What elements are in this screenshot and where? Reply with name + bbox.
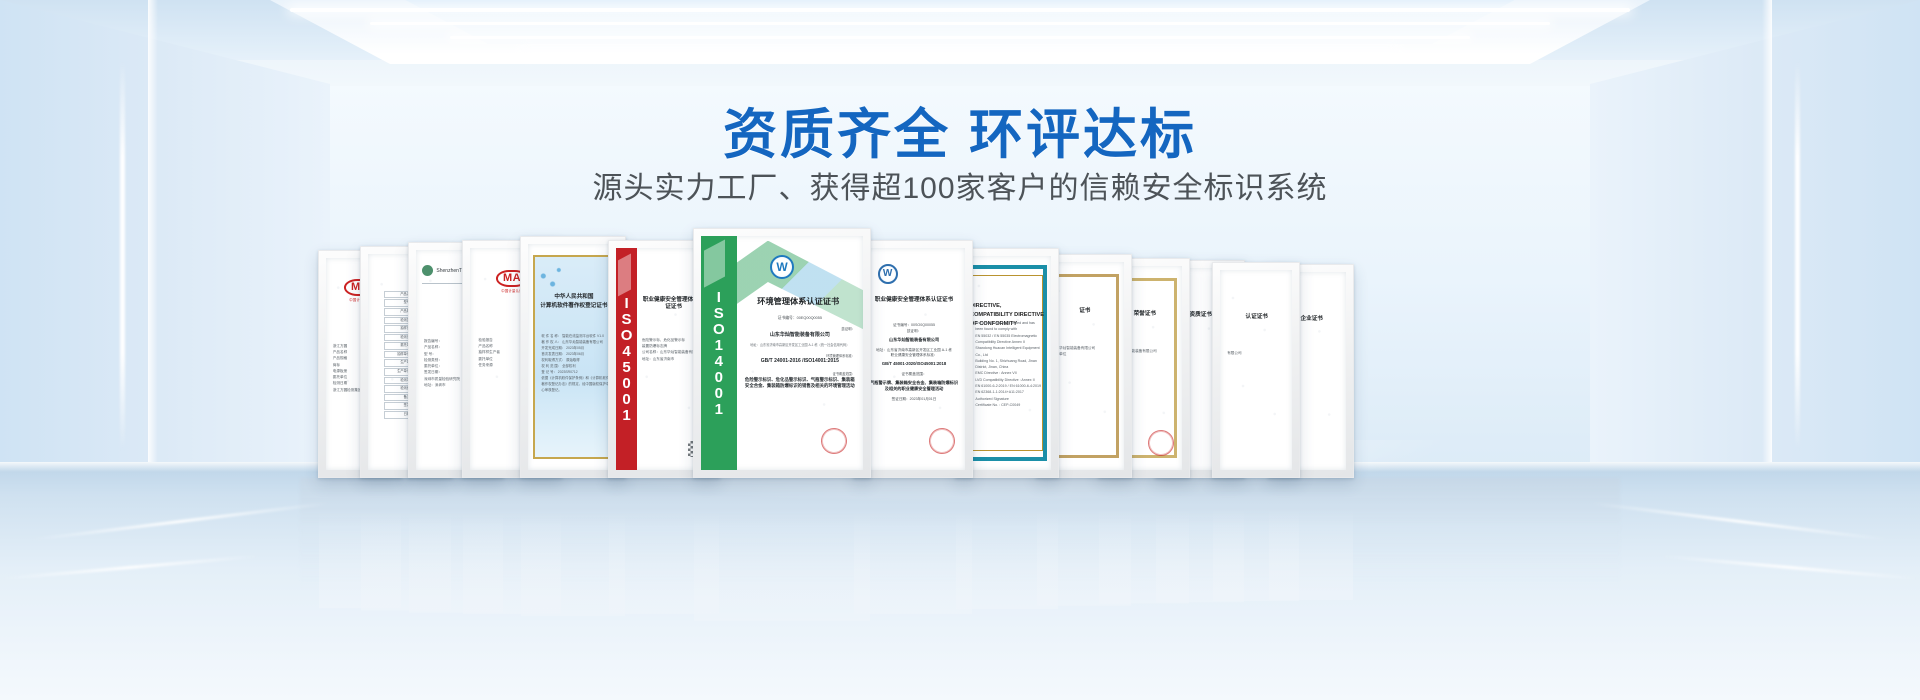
- certificate-title-line: 认证证书: [1226, 314, 1288, 321]
- paper-watermark: [1220, 270, 1292, 470]
- page-subtitle: 源头实力工厂、获得超100家客户的信赖安全标识系统: [0, 163, 1920, 207]
- certificate-body: The product has been tested and has been…: [975, 320, 1042, 408]
- banner-stage: 资质齐全 环评达标 源头实力工厂、获得超100家客户的信赖安全标识系统 MA中国…: [0, 0, 1920, 700]
- certificate-field-line: Certificate No. : CEP-C0049: [975, 402, 1042, 408]
- certificate-title-block: 职业健康安全管理体系认证证书: [869, 297, 958, 306]
- certificate-paper: 认证证书有限公司: [1220, 270, 1292, 470]
- certificate-body: 有限公司: [1227, 350, 1286, 356]
- iso-standard-label: ISO14001: [710, 289, 727, 417]
- certificate-body: 证书编号：00SO0Q00055兹证明：山东华灿智能装备有限公司地址：山东省济南…: [869, 323, 958, 402]
- scope-value: 危险警示标识、危化品警示标识、气瓶警示标识、集装箱安全合金、集装箱防爆标识的销售…: [745, 377, 855, 390]
- company-label: 兹证明：: [869, 329, 958, 335]
- certification-body-logo-icon: W: [878, 264, 898, 284]
- certificate-paper: ISO14001W环境管理体系认证证书证书编号：00EQ00Q0055兹证明：山…: [701, 236, 863, 470]
- ceiling-light-strip-3: [450, 36, 1470, 39]
- certificate-frame[interactable]: W职业健康安全管理体系认证证书证书编号：00SO0Q00055兹证明：山东华灿智…: [853, 240, 973, 478]
- scope-value: 气瓶警示牌、集装箱安全合金、集装箱防爆标识及相关的职业健康安全管理活动: [869, 380, 958, 393]
- certification-body-logo-icon: W: [770, 255, 794, 279]
- certificate-field-line: Shandong Huacan Intelligent Equipment Co…: [975, 345, 1042, 358]
- certificate-title-line: DIRECTIVE,: [970, 303, 1046, 310]
- certificate-paper: DIRECTIVE,COMPATIBILITY DIRECTIVEOF CONF…: [963, 256, 1051, 470]
- company-name: 山东华灿智能装备有限公司: [745, 332, 855, 340]
- ceiling-light-strip-4: [520, 50, 1400, 52]
- certificate-title-line: COMPATIBILITY DIRECTIVE: [970, 312, 1046, 319]
- certificate-field-line: The product has been tested and has been…: [975, 320, 1042, 333]
- certificate-title-line: 职业健康安全管理体系认证证书: [869, 297, 958, 304]
- certificate-number: 证书编号：00EQ00Q0055: [745, 316, 855, 322]
- certificate-body: 证书编号：00EQ00Q0055兹证明：山东华灿智能装备有限公司地址：山东省济南…: [745, 316, 855, 390]
- certificate-title-line: 环境管理体系认证证书: [743, 297, 853, 307]
- certificate-field-line: Building No. 1, Shizhuang Road, Jinan Di…: [975, 358, 1042, 371]
- certificate-body: 山东华灿智能装备有限公司颁发单位: [1052, 345, 1118, 358]
- certificate-title-line: 证书: [1050, 308, 1119, 315]
- certificate-field-line: 有限公司: [1227, 350, 1286, 356]
- page-title: 资质齐全 环评达标: [0, 90, 1920, 169]
- certificate-border-frame: [1049, 274, 1119, 457]
- standard-value: GB/T 45001-2020/ISO45001:2018: [869, 361, 958, 368]
- certificate-title-block: 证书: [1050, 308, 1119, 317]
- ceiling-light-strip-2: [370, 22, 1550, 25]
- certificate-title-block: 认证证书: [1226, 314, 1288, 323]
- iso-standard-label: ISO45001: [618, 295, 635, 423]
- ceiling-light-strip-1: [290, 8, 1630, 12]
- certificate-paper: W职业健康安全管理体系认证证书证书编号：00SO0Q00055兹证明：山东华灿智…: [861, 248, 965, 470]
- iso-standard-band: ISO45001: [616, 248, 637, 470]
- company-name: 山东华灿智能装备有限公司: [869, 337, 958, 344]
- certificate-title-line: 计算机软件著作权登记证书: [535, 303, 612, 310]
- certificate-title-line: 中华人民共和国: [535, 294, 612, 301]
- certificate-paper: 中华人民共和国计算机软件著作权登记证书软 件 名 称： 智能在线监测平台软件 V…: [528, 244, 618, 470]
- standard-value: GB/T 24001-2016 /ISO14001:2015: [745, 358, 855, 366]
- company-address: 地址：山东省济南市高新区开发区工业园 A-1 栋（统一社会信用代码）: [745, 343, 855, 348]
- certificate-title-block: 环境管理体系认证证书: [743, 297, 853, 309]
- certificate-field-line: 依据《计算机软件保护条例》和《计算机软件著作权登记办法》的规定，经中国版权保护中…: [537, 376, 611, 394]
- scope-label: 证书覆盖范围：: [869, 372, 958, 378]
- standard-label: 职业健康安全管理体系标准：: [869, 353, 958, 359]
- certificate-frame[interactable]: ISO14001W环境管理体系认证证书证书编号：00EQ00Q0055兹证明：山…: [693, 228, 871, 478]
- certificate-title-block: 中华人民共和国计算机软件著作权登记证书: [535, 294, 612, 312]
- certificate-frame[interactable]: 认证证书有限公司: [1212, 262, 1300, 478]
- certificate-body: 软 件 名 称： 智能在线监测平台软件 V1.0著 作 权 人： 山东华灿智能装…: [537, 334, 611, 394]
- certificate-field-line: 颁发单位: [1052, 351, 1118, 357]
- lab-logo-icon: [422, 265, 433, 276]
- issue-date: 签证日期：2023年01月01日: [869, 397, 958, 403]
- iso-standard-band: ISO14001: [701, 236, 737, 470]
